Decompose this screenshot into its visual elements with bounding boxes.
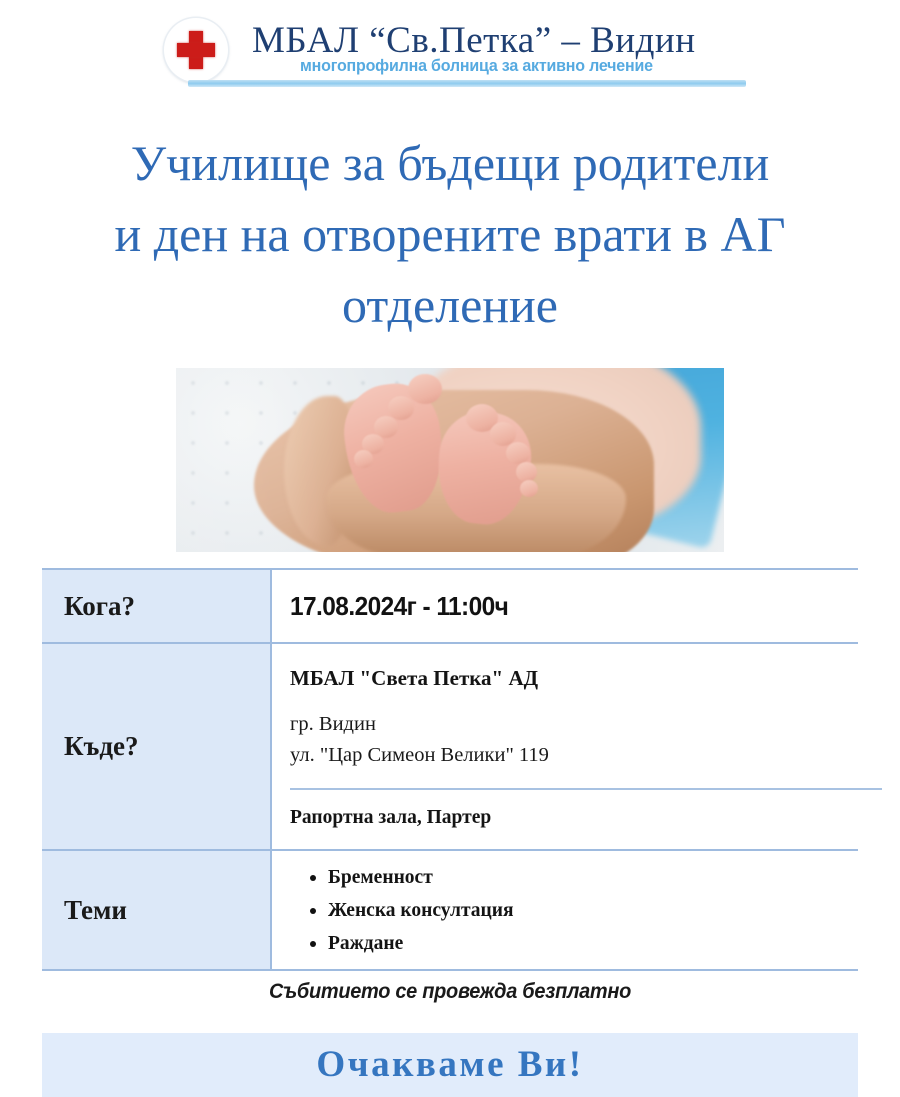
list-item: Бременност xyxy=(328,861,848,894)
await-banner: Очакваме Ви! xyxy=(42,1033,858,1097)
list-item: Раждане xyxy=(328,927,848,960)
list-item: Женска консултация xyxy=(328,894,848,927)
header-banner: МБАЛ “Св.Петка” – Видин многопрофилна бо… xyxy=(0,0,900,110)
venue-divider xyxy=(290,788,882,790)
hospital-name: МБАЛ “Св.Петка” – Видин xyxy=(252,19,752,62)
photo-toe xyxy=(520,480,538,497)
table-row-where: Къде? МБАЛ "Света Петка" АД гр. Видин ул… xyxy=(42,643,858,850)
topics-list: Бременност Женска консултация Раждане xyxy=(290,861,848,960)
venue-street: ул. "Цар Симеон Велики" 119 xyxy=(290,740,848,771)
await-message: Очакваме Ви! xyxy=(42,1033,858,1097)
photo-toe xyxy=(506,442,530,464)
row-value-topics: Бременност Женска консултация Раждане xyxy=(271,850,858,970)
row-label-when: Кога? xyxy=(42,569,271,643)
title-line-3: отделение xyxy=(30,270,870,341)
venue-name: МБАЛ "Света Петка" АД xyxy=(290,666,848,691)
title-line-2: и ден на отворените врати в АГ xyxy=(30,199,870,270)
row-label-where: Къде? xyxy=(42,643,271,850)
event-datetime: 17.08.2024г - 11:00ч xyxy=(290,591,815,622)
hospital-tagline: многопрофилна болница за активно лечение xyxy=(300,57,746,76)
photo-toe xyxy=(354,450,373,468)
header-accent-rule xyxy=(188,80,746,87)
venue-city: гр. Видин xyxy=(290,709,848,740)
row-label-topics: Теми xyxy=(42,850,271,970)
venue-block: МБАЛ "Света Петка" АД гр. Видин ул. "Цар… xyxy=(290,662,848,831)
photo-toe xyxy=(388,396,414,420)
table-row-when: Кога? 17.08.2024г - 11:00ч xyxy=(42,569,858,643)
red-cross-icon xyxy=(177,31,215,69)
free-event-note: Събитието се провежда безплатно xyxy=(51,980,849,1004)
venue-room: Рапортна зала, Партер xyxy=(290,807,848,829)
page-title: Училище за бъдещи родители и ден на отво… xyxy=(30,128,870,341)
baby-feet-photo xyxy=(176,368,724,552)
photo-toe xyxy=(408,374,442,404)
hospital-logo xyxy=(164,18,230,84)
title-line-1: Училище за бъдещи родители xyxy=(30,128,870,199)
photo-toe xyxy=(516,462,537,482)
row-value-when: 17.08.2024г - 11:00ч xyxy=(271,569,858,643)
event-details-table: Кога? 17.08.2024г - 11:00ч Къде? МБАЛ "С… xyxy=(42,568,858,971)
row-value-where: МБАЛ "Света Петка" АД гр. Видин ул. "Цар… xyxy=(271,643,858,850)
table-row-topics: Теми Бременност Женска консултация Ражда… xyxy=(42,850,858,970)
